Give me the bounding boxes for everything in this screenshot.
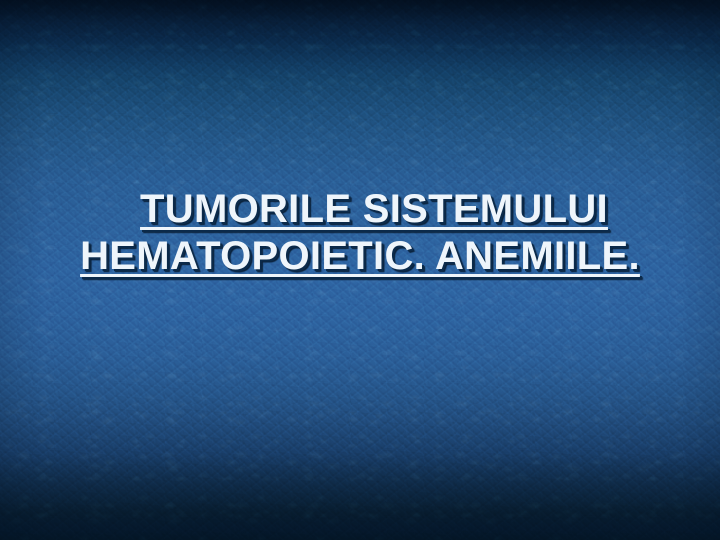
slide-title-line-1: TUMORILE SISTEMULUI — [0, 186, 720, 233]
slide-title: TUMORILE SISTEMULUI HEMATOPOIETIC. ANEMI… — [0, 186, 720, 280]
slide-title-line-2: HEMATOPOIETIC. ANEMIILE. — [0, 233, 720, 280]
presentation-slide: TUMORILE SISTEMULUI HEMATOPOIETIC. ANEMI… — [0, 0, 720, 540]
